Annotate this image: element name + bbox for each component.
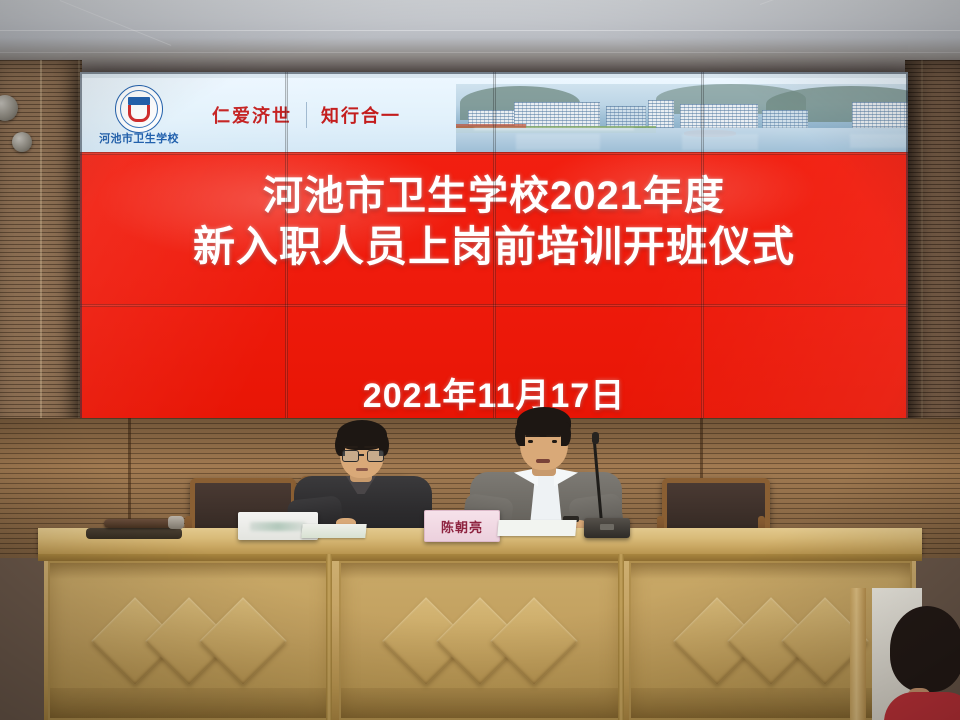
door-frame-post [850,588,866,720]
left-documents [301,524,366,538]
ceiling [0,0,960,72]
meeting-room-photo: 河池市卫生学校 仁爱济世 知行合一 [0,0,960,720]
presiding-table [38,528,922,720]
gooseneck-microphone[interactable] [580,432,640,540]
handheld-microphone[interactable] [86,512,196,540]
nameplate-right: 陈朝亮 [424,510,500,542]
table-panel-3 [629,561,912,720]
table-panel-1 [48,561,331,720]
led-video-wall[interactable]: 河池市卫生学校 仁爱济世 知行合一 [80,72,908,420]
foreground-person-hair [890,606,960,692]
audience-member-foreground [884,588,960,720]
left-person-glasses-icon [342,450,384,462]
right-documents [497,520,576,536]
table-panel-2 [339,561,622,720]
right-person-mouth-speaking [536,459,550,463]
video-wall-frame [80,72,908,420]
nameplate-right-text: 陈朝亮 [441,517,483,536]
wall-speaker-lower [12,132,32,152]
